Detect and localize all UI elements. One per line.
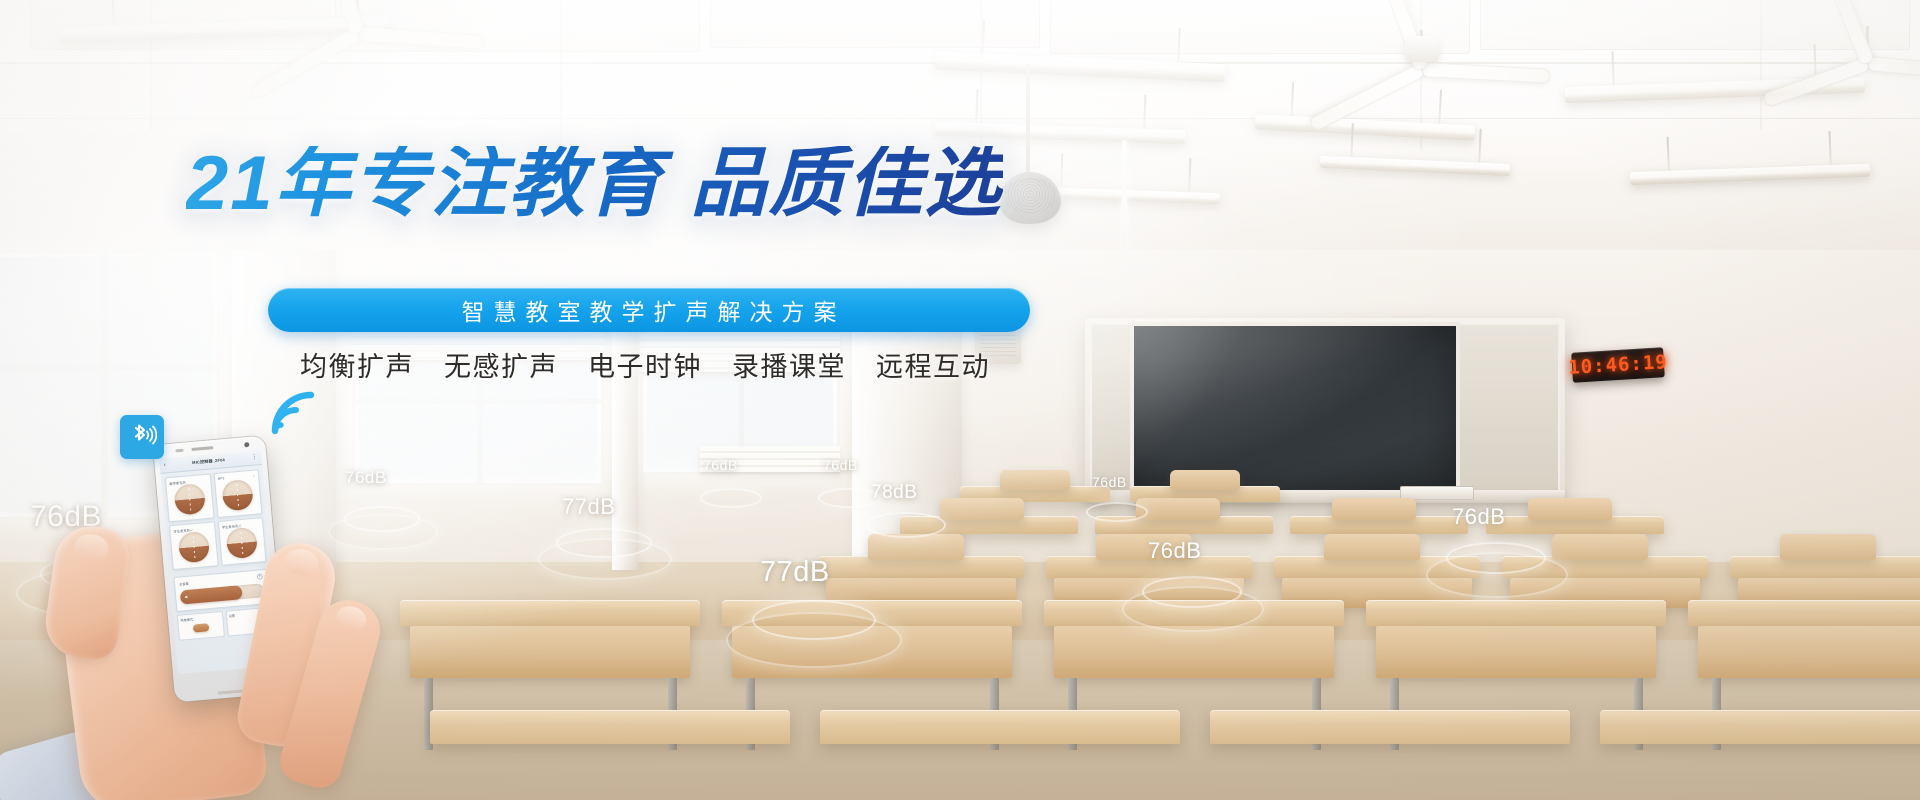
channel-card[interactable]: MP3 ♫ bbox=[213, 469, 262, 518]
page-title: 21年专注教育品质佳选 bbox=[186, 146, 1003, 222]
db-label: 76dB bbox=[823, 457, 858, 473]
feature-item-1: 无感扩声 bbox=[444, 345, 558, 384]
scene-mode-button[interactable]: 场景模式 bbox=[177, 611, 225, 641]
more-vertical-icon[interactable]: ⋮ bbox=[251, 454, 258, 461]
music-note-icon: ♫ bbox=[252, 473, 255, 478]
channel-card[interactable]: 学生麦克风二 bbox=[217, 517, 266, 566]
channel-card[interactable]: 教师麦克风 bbox=[165, 473, 214, 522]
feature-item-2: 电子时钟 bbox=[588, 345, 702, 384]
volume-knob[interactable] bbox=[222, 479, 255, 512]
subtitle-pill-label: 智慧教室教学扩声解决方案 bbox=[453, 293, 846, 327]
finger-nail bbox=[283, 546, 321, 578]
channel-grid: 教师麦克风 MP3 ♫ 学生麦克风一 学生麦克风二 bbox=[160, 465, 270, 575]
slider-fill bbox=[180, 585, 243, 604]
db-label: 76dB bbox=[703, 457, 738, 473]
thumb-nail bbox=[73, 532, 110, 562]
chevron-left-icon[interactable]: ‹ bbox=[164, 462, 167, 468]
feature-item-4: 远程互动 bbox=[876, 345, 990, 384]
feature-item-0: 均衡扩声 bbox=[300, 345, 414, 384]
earpiece-speaker bbox=[191, 446, 213, 451]
db-label: 77dB bbox=[562, 494, 615, 520]
feature-item-3: 录播课堂 bbox=[732, 345, 846, 384]
db-label: 78dB bbox=[871, 482, 917, 504]
subtitle-pill: 智慧教室教学扩声解决方案 bbox=[268, 288, 1030, 332]
scene-mode-label: 场景模式 bbox=[180, 614, 220, 622]
hero-banner: 10:46:19 bbox=[0, 0, 1920, 800]
channel-card[interactable]: 学生麦克风一 bbox=[169, 521, 218, 570]
feature-list: 均衡扩声 无感扩声 电子时钟 录播课堂 远程互动 bbox=[300, 345, 990, 384]
home-indicator bbox=[218, 689, 244, 694]
scene-mode-toggle[interactable] bbox=[192, 623, 209, 632]
finger-nail bbox=[334, 603, 369, 632]
wifi-signal-icon bbox=[265, 383, 321, 444]
hand-holding-phone: ‹ MIC控制器_2F04 ⋮ 教师麦克风 MP3 ♫ 学生麦克 bbox=[0, 430, 470, 800]
volume-knob[interactable] bbox=[226, 527, 259, 560]
app-title: MIC控制器_2F04 bbox=[192, 457, 225, 466]
headline-part-2: 品质佳选 bbox=[691, 141, 1003, 226]
volume-knob[interactable] bbox=[173, 483, 206, 516]
volume-knob[interactable] bbox=[178, 531, 211, 564]
db-label: 76dB bbox=[1148, 538, 1201, 564]
db-label: 76dB bbox=[1452, 504, 1505, 530]
bluetooth-icon bbox=[120, 415, 164, 459]
db-label: 77dB bbox=[760, 556, 830, 589]
headline-part-1: 21年专注教育 bbox=[186, 141, 665, 226]
proximity-sensor bbox=[175, 449, 183, 453]
db-label: 76dB bbox=[1092, 474, 1127, 490]
front-camera bbox=[244, 442, 249, 447]
master-volume-slider[interactable] bbox=[180, 583, 265, 604]
